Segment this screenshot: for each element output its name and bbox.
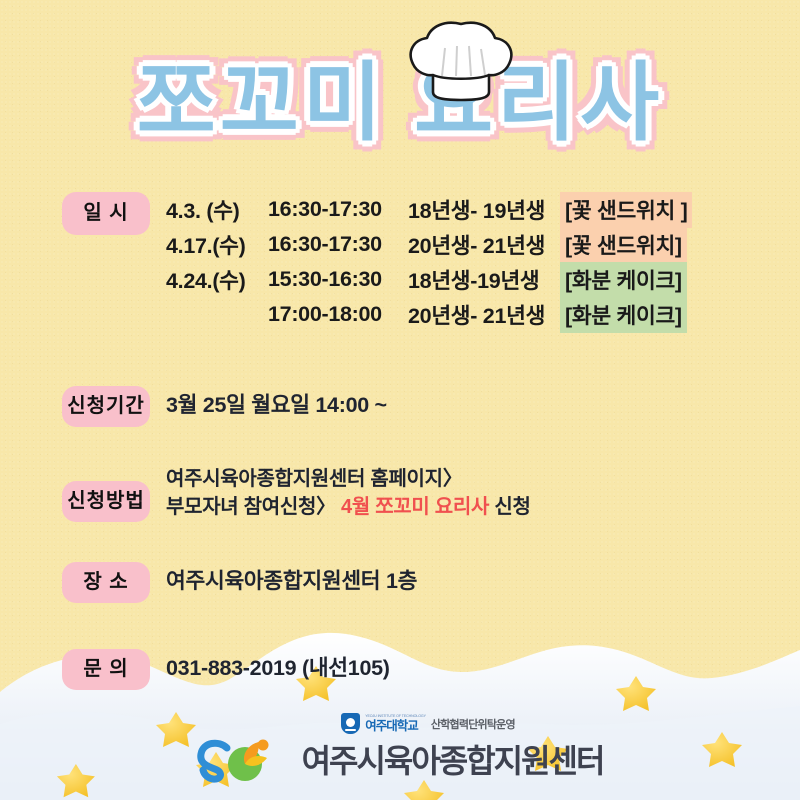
- application-period-label: 신청기간: [62, 386, 150, 427]
- chef-hat-icon: [405, 18, 517, 110]
- schedule-row: 일 시 4.3. (수) 16:30-17:30 18년생- 19년생 [꽃 샌…: [0, 192, 800, 332]
- location-body: 여주시육아종합지원센터 1층: [150, 562, 800, 597]
- schedule-age: 18년생-19년생: [400, 264, 560, 295]
- location-value: 여주시육아종합지원센터 1층: [166, 562, 800, 597]
- application-period-body: 3월 25일 월요일 14:00 ~: [150, 386, 800, 421]
- schedule-item: 4.3. (수) 16:30-17:30 18년생- 19년생 [꽃 샌드위치 …: [166, 192, 800, 227]
- schedule-time: 15:30-16:30: [262, 267, 400, 292]
- location-label: 장 소: [62, 562, 150, 603]
- center-name: 여주시육아종합지원센터: [302, 745, 604, 777]
- schedule-age: 18년생- 19년생: [400, 194, 560, 225]
- application-period-row: 신청기간 3월 25일 월요일 14:00 ~: [0, 386, 800, 427]
- university-name: 여주대학교: [365, 720, 418, 733]
- schedule-age: 20년생- 21년생: [400, 229, 560, 260]
- info-section: 일 시 4.3. (수) 16:30-17:30 18년생- 19년생 [꽃 샌…: [0, 192, 800, 690]
- application-method-line1-text: 여주시육아종합지원센터 홈페이지: [166, 468, 443, 490]
- schedule-menu: [화분 케이크]: [560, 297, 687, 333]
- application-method-line2-suffix: 신청: [494, 496, 530, 518]
- application-method-label: 신청방법: [62, 481, 150, 522]
- university-subtitle: 산학협력단위탁운영: [431, 716, 515, 732]
- contact-value: 031-883-2019 (내선105): [166, 649, 800, 684]
- application-method-row: 신청방법 여주시육아종합지원센터 홈페이지〉 부모자녀 참여신청〉 4월 쪼꼬미…: [0, 465, 800, 522]
- schedule-date: 4.17.(수): [166, 229, 262, 260]
- contact-body: 031-883-2019 (내선105): [150, 649, 800, 684]
- contact-label: 문 의: [62, 649, 150, 690]
- schedule-date: 4.3. (수): [166, 194, 262, 225]
- application-method-line1: 여주시육아종합지원센터 홈페이지〉: [166, 465, 800, 493]
- application-method-line2-prefix: 부모자녀 참여신청: [166, 496, 316, 518]
- university-shield-icon: [341, 713, 360, 734]
- schedule-menu: [꽃 샌드위치]: [560, 227, 687, 263]
- location-row: 장 소 여주시육아종합지원센터 1층: [0, 562, 800, 603]
- contact-row: 문 의 031-883-2019 (내선105): [0, 649, 800, 690]
- schedule-menu: [화분 케이크]: [560, 262, 687, 298]
- application-method-line2-accent: 4월 쪼꼬미 요리사: [341, 496, 489, 518]
- application-method-line2: 부모자녀 참여신청〉 4월 쪼꼬미 요리사 신청: [166, 493, 800, 521]
- application-method-body: 여주시육아종합지원센터 홈페이지〉 부모자녀 참여신청〉 4월 쪼꼬미 요리사 …: [150, 465, 800, 522]
- footer-logos: YEOJU INSTITUTE OF TECHNOLOGY 여주대학교 산학협력…: [0, 713, 800, 786]
- schedule-item: 4.17.(수) 16:30-17:30 20년생- 21년생 [꽃 샌드위치]: [166, 227, 800, 262]
- schedule-list: 4.3. (수) 16:30-17:30 18년생- 19년생 [꽃 샌드위치 …: [150, 192, 800, 332]
- page-title: 쪼꼬미 요리사: [111, 50, 690, 156]
- chevron-right-icon: 〉: [443, 468, 463, 490]
- poster-root: 쪼꼬미 요리사 일 시 4.3. (수) 16:30-17:30 18년생- 1…: [0, 0, 800, 800]
- schedule-item: 4.24.(수) 15:30-16:30 18년생-19년생 [화분 케이크]: [166, 262, 800, 297]
- title-area: 쪼꼬미 요리사: [0, 28, 800, 178]
- application-period-value: 3월 25일 월요일 14:00 ~: [166, 386, 800, 421]
- center-logo-row: 여주시육아종합지원센터: [197, 736, 604, 786]
- schedule-menu: [꽃 샌드위치 ]: [560, 192, 692, 228]
- schedule-age: 20년생- 21년생: [400, 299, 560, 330]
- schedule-date: 4.24.(수): [166, 264, 262, 295]
- schedule-time: 16:30-17:30: [262, 197, 400, 222]
- schedule-item: 17:00-18:00 20년생- 21년생 [화분 케이크]: [166, 297, 800, 332]
- university-logo: YEOJU INSTITUTE OF TECHNOLOGY 여주대학교 산학협력…: [341, 713, 515, 734]
- chevron-right-icon: 〉: [316, 496, 336, 518]
- schedule-time: 16:30-17:30: [262, 232, 400, 257]
- schedule-time: 17:00-18:00: [262, 302, 400, 327]
- sc-logo-icon: [197, 736, 293, 786]
- university-english-name: YEOJU INSTITUTE OF TECHNOLOGY: [365, 715, 426, 719]
- schedule-label: 일 시: [62, 192, 150, 235]
